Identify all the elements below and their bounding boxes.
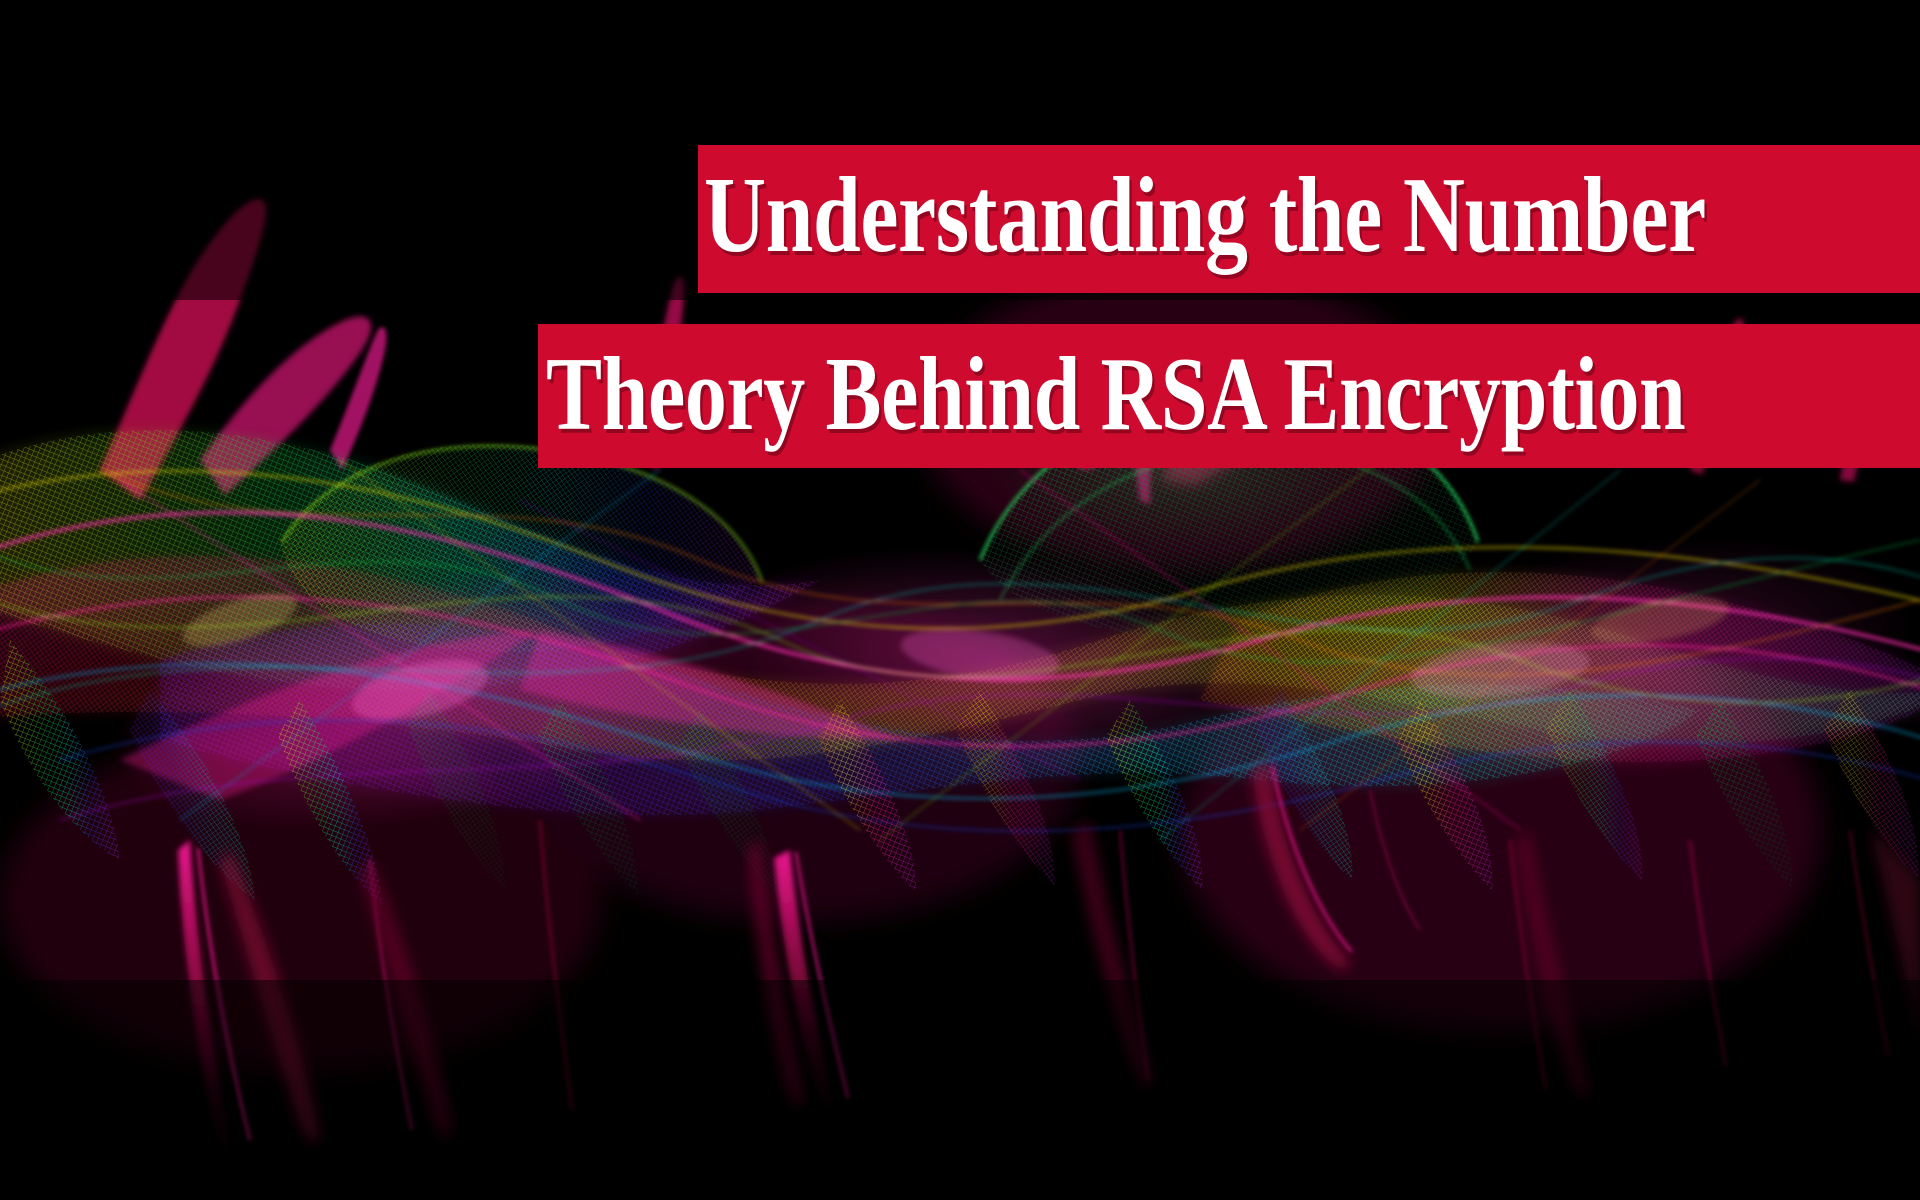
title-line-2-text: Theory Behind RSA Encryption (546, 341, 1685, 446)
banner-canvas: Understanding the Number Theory Behind R… (0, 0, 1920, 1200)
title-line-1-text: Understanding the Number (704, 162, 1706, 270)
title-band-line-1: Understanding the Number (698, 145, 1920, 293)
title-band-line-2: Theory Behind RSA Encryption (538, 324, 1920, 468)
